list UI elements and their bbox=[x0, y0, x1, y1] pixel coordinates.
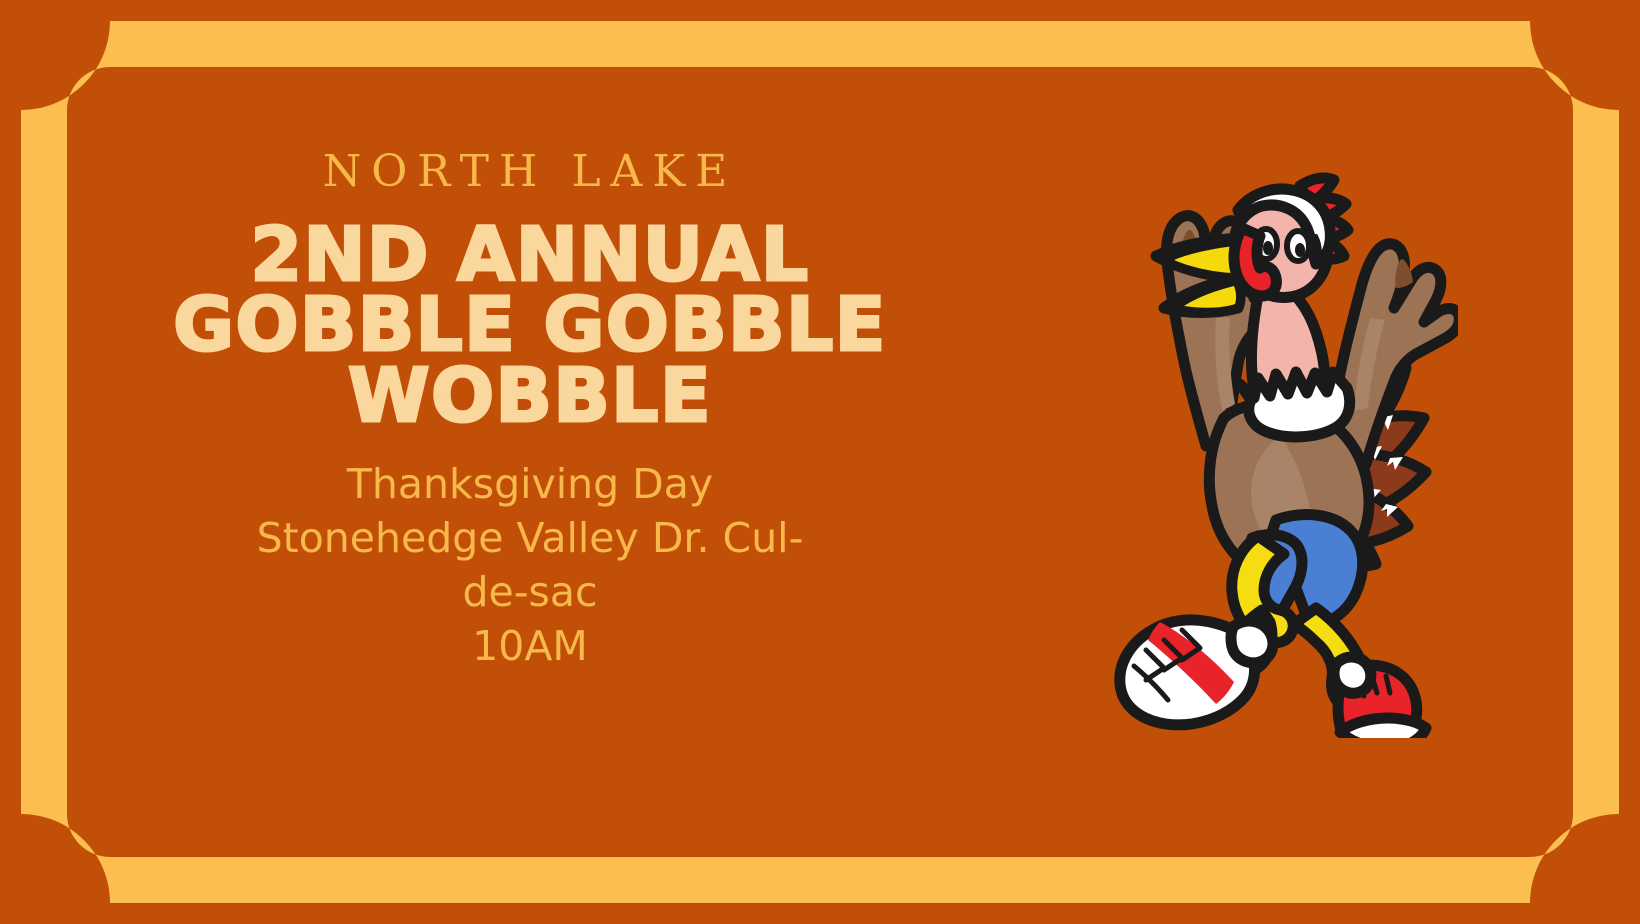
right-shoe bbox=[1334, 657, 1426, 738]
eyebrow-text: NORTH LAKE bbox=[120, 150, 940, 194]
headline-line-3: WOBBLE bbox=[120, 361, 940, 431]
left-shoe bbox=[1120, 620, 1273, 725]
headline-line-1: 2ND ANNUAL bbox=[120, 220, 940, 290]
detail-line-location-1: Stonehedge Valley Dr. Cul- bbox=[136, 511, 924, 565]
detail-line-location-2: de-sac bbox=[136, 565, 924, 619]
poster-text-block: NORTH LAKE 2ND ANNUAL GOBBLE GOBBLE WOBB… bbox=[120, 150, 940, 673]
detail-line-time: 10AM bbox=[136, 619, 924, 673]
page-title: 2ND ANNUAL GOBBLE GOBBLE WOBBLE bbox=[120, 220, 940, 431]
headline-line-2: GOBBLE GOBBLE bbox=[120, 290, 940, 360]
event-details: Thanksgiving Day Stonehedge Valley Dr. C… bbox=[120, 457, 940, 673]
detail-line-date: Thanksgiving Day bbox=[136, 457, 924, 511]
neck-ruff bbox=[1240, 372, 1350, 437]
poster-canvas: NORTH LAKE 2ND ANNUAL GOBBLE GOBBLE WOBB… bbox=[0, 0, 1640, 924]
turkey-head bbox=[1156, 178, 1348, 313]
running-turkey-illustration bbox=[1028, 118, 1458, 738]
